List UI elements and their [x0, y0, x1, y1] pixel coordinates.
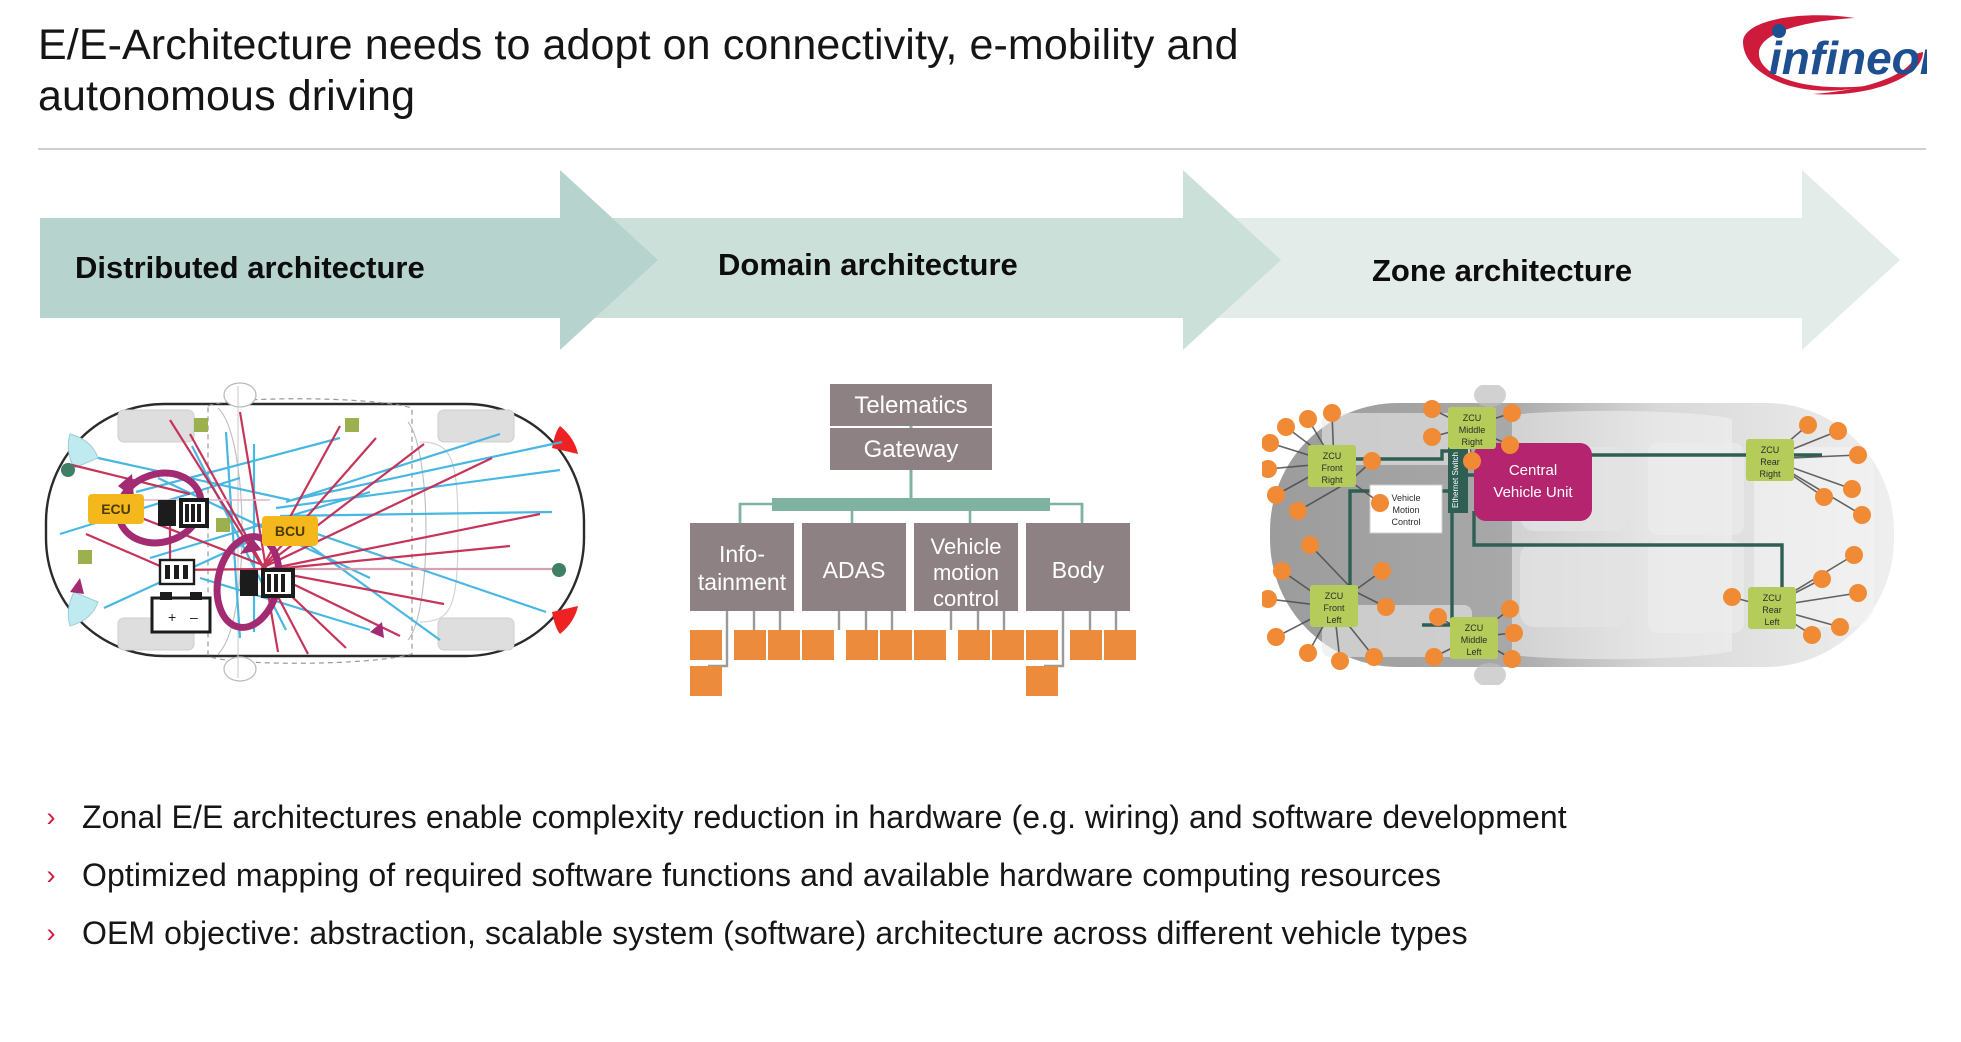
bcu-tag-label: BCU	[275, 523, 305, 539]
domain-box-vmc-line3: control	[933, 586, 999, 611]
svg-text:–: –	[190, 609, 198, 625]
list-item: › OEM objective: abstraction, scalable s…	[42, 916, 1922, 952]
ecu-tag-label: ECU	[101, 501, 131, 517]
logo-dot	[1772, 24, 1786, 38]
domain-box-infotainment-line2: tainment	[698, 569, 787, 595]
zone-architecture-diagram: Ethernet Switch Central Vehicle Unit Veh…	[1262, 385, 1902, 685]
zcu-front-right: ZCU Front Right	[1308, 445, 1356, 487]
node-telematics: Telematics	[830, 384, 992, 426]
zcu-middle-left: ZCU Middle Left	[1450, 617, 1498, 659]
domain-box-vehicle-motion-control: Vehicle motion control	[914, 523, 1018, 611]
vmc-line2: Motion	[1392, 505, 1419, 515]
bullet-chevron-icon: ›	[42, 916, 60, 947]
domain-box-infotainment: Info- tainment	[690, 523, 794, 611]
list-item: › Zonal E/E architectures enable complex…	[42, 800, 1922, 836]
zcu-rear-left-line1: ZCU	[1763, 593, 1782, 603]
car-ghost-top-view	[1270, 385, 1894, 685]
zcu-rear-left: ZCU Rear Left	[1748, 587, 1796, 629]
key-points-list: › Zonal E/E architectures enable complex…	[42, 800, 1922, 973]
leaf-node-extra-infotainment	[690, 666, 722, 696]
stage-label-distributed: Distributed architecture	[75, 250, 425, 286]
domain-box-body-label: Body	[1052, 557, 1105, 583]
infineon-logo: infineon	[1727, 12, 1927, 108]
title-divider	[38, 148, 1926, 150]
list-item-text: Optimized mapping of required software f…	[82, 858, 1441, 894]
page-title-line-2: autonomous driving	[38, 71, 1418, 122]
zcu-rear-right-line3: Right	[1759, 469, 1781, 479]
zcu-rear-right-line1: ZCU	[1761, 445, 1780, 455]
node-telematics-label: Telematics	[854, 392, 967, 419]
central-vehicle-unit-line2: Vehicle Unit	[1493, 484, 1573, 501]
zcu-middle-right: ZCU Middle Right	[1448, 407, 1496, 449]
central-vehicle-unit: Central Vehicle Unit	[1474, 443, 1592, 521]
zcu-middle-left-line3: Left	[1466, 647, 1482, 657]
page-title-line-1: E/E-Architecture needs to adopt on conne…	[38, 20, 1418, 71]
zcu-middle-right-line1: ZCU	[1463, 413, 1482, 423]
zcu-front-left-line2: Front	[1323, 603, 1345, 613]
domain-box-vmc-line2: motion	[933, 560, 999, 585]
zcu-rear-right: ZCU Rear Right	[1746, 439, 1794, 481]
zcu-middle-right-line3: Right	[1461, 437, 1483, 447]
zcu-front-left: ZCU Front Left	[1310, 585, 1358, 627]
vmc-line1: Vehicle	[1391, 493, 1420, 503]
leaf-node-extra-body	[1026, 666, 1058, 696]
zcu-front-right-line2: Front	[1321, 463, 1343, 473]
leaf-nodes	[690, 630, 1136, 696]
zcu-rear-left-line3: Left	[1764, 617, 1780, 627]
central-vehicle-unit-line1: Central	[1509, 462, 1557, 479]
bullet-chevron-icon: ›	[42, 858, 60, 889]
zcu-rear-right-line2: Rear	[1760, 457, 1780, 467]
zcu-middle-left-line2: Middle	[1461, 635, 1488, 645]
node-gateway-label: Gateway	[864, 436, 959, 463]
domain-box-vmc-line1: Vehicle	[931, 534, 1002, 559]
stage-label-domain: Domain architecture	[718, 247, 1018, 283]
zcu-front-right-line3: Right	[1321, 475, 1343, 485]
zcu-front-left-line1: ZCU	[1325, 591, 1344, 601]
bcu-tag: BCU	[262, 516, 318, 546]
zcu-middle-left-line1: ZCU	[1465, 623, 1484, 633]
logo-wordmark: infineon	[1769, 32, 1927, 84]
domain-bus-bar	[740, 498, 1082, 523]
domain-box-body: Body	[1026, 523, 1130, 611]
node-gateway: Gateway	[830, 428, 992, 470]
svg-text:+: +	[168, 609, 176, 625]
slide-root: E/E-Architecture needs to adopt on conne…	[0, 0, 1961, 1042]
zcu-front-left-line3: Left	[1326, 615, 1342, 625]
page-title: E/E-Architecture needs to adopt on conne…	[38, 20, 1418, 121]
distributed-architecture-diagram: + – ECU BCU	[40, 382, 590, 682]
ethernet-switch-label: Ethernet Switch	[1451, 452, 1460, 508]
domain-architecture-diagram: Telematics Gateway	[672, 378, 1150, 698]
zcu-middle-right-line2: Middle	[1459, 425, 1486, 435]
zcu-front-right-line1: ZCU	[1323, 451, 1342, 461]
stage-label-zone: Zone architecture	[1372, 253, 1632, 289]
domain-box-adas-label: ADAS	[823, 557, 886, 583]
list-item-text: OEM objective: abstraction, scalable sys…	[82, 916, 1468, 952]
zcu-rear-left-line2: Rear	[1762, 605, 1782, 615]
list-item: › Optimized mapping of required software…	[42, 858, 1922, 894]
bullet-chevron-icon: ›	[42, 800, 60, 831]
list-item-text: Zonal E/E architectures enable complexit…	[82, 800, 1567, 836]
domain-box-adas: ADAS	[802, 523, 906, 611]
ecu-tag: ECU	[88, 494, 144, 524]
domain-box-infotainment-line1: Info-	[719, 541, 765, 567]
vmc-line3: Control	[1391, 517, 1420, 527]
